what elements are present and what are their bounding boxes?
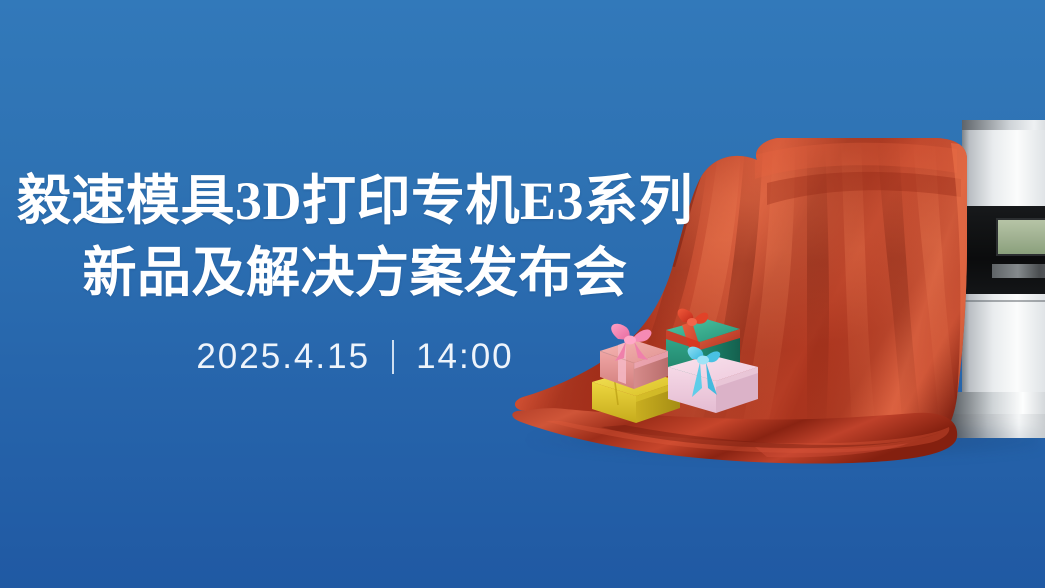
event-date: 2025.4.15 <box>196 337 370 377</box>
poster-title-line-1: 毅速模具3D打印专机E3系列 <box>0 165 710 237</box>
event-datetime: 2025.4.15 14:00 <box>0 337 710 377</box>
datetime-separator <box>392 340 394 374</box>
poster-text-block: 毅速模具3D打印专机E3系列 新品及解决方案发布会 2025.4.15 14:0… <box>0 165 710 377</box>
event-poster: 毅速模具3D打印专机E3系列 新品及解决方案发布会 2025.4.15 14:0… <box>0 0 1045 588</box>
poster-title-line-2: 新品及解决方案发布会 <box>0 237 710 309</box>
event-time: 14:00 <box>416 337 514 377</box>
